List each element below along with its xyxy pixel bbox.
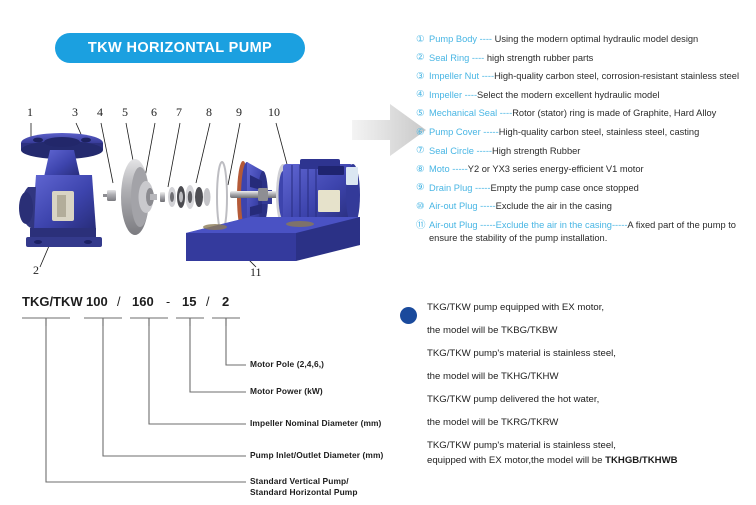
- model-code-leader-lines: [0, 292, 390, 500]
- feature-dash: ----: [462, 90, 477, 100]
- variant-line: the model will be TKHG/TKHW: [427, 372, 756, 382]
- feature-item: ②Seal Ring ---- high strength rubber par…: [416, 53, 756, 64]
- feature-number: ⑥: [416, 127, 429, 138]
- feature-text: Seal Ring ---- high strength rubber part…: [429, 53, 593, 64]
- code-token-hyphen: -: [166, 295, 170, 309]
- variant-line-text: TKG/TKW pump equipped with EX motor,: [427, 302, 604, 313]
- feature-number: ⑦: [416, 146, 429, 157]
- callout-8: 8: [206, 105, 212, 120]
- variant-line-text: the model will be TKBG/TKBW: [427, 325, 557, 336]
- callout-2: 2: [33, 263, 39, 278]
- feature-dash: -----: [472, 183, 490, 193]
- variant-line-text: equipped with EX motor,the model will be: [427, 455, 605, 466]
- feature-text: Pump Cover -----High-quality carbon stee…: [429, 127, 699, 138]
- variant-line-model: TKHGB/TKHWB: [605, 455, 677, 466]
- callout-5: 5: [122, 105, 128, 120]
- callout-1: 1: [27, 105, 33, 120]
- variant-line-text: the model will be TKHG/TKHW: [427, 371, 559, 382]
- feature-desc: Select the modern excellent hydraulic mo…: [477, 90, 659, 100]
- model-code-breakdown: TKG/TKW 100 / 160 - 15 / 2 Motor Pole (2…: [0, 292, 390, 500]
- callout-10: 10: [268, 105, 280, 120]
- feature-part-name: Impeller Nut: [429, 71, 479, 81]
- impeller-nut-part: [103, 190, 116, 201]
- variant-line-text: the model will be TKRG/TKRW: [427, 417, 558, 428]
- feature-text: Air-out Plug -----Exclude the air in the…: [429, 201, 612, 212]
- variant-line: the model will be TKBG/TKBW: [427, 326, 756, 336]
- feature-dash: -----: [478, 220, 496, 230]
- variant-line: TKG/TKW pump's material is stainless ste…: [427, 441, 756, 451]
- feature-desc: high strength rubber parts: [487, 53, 593, 63]
- feature-dash: -----: [474, 146, 492, 156]
- feature-text: Impeller Nut ----High-quality carbon ste…: [429, 71, 739, 82]
- label-impeller-diameter: Impeller Nominal Diameter (mm): [250, 417, 381, 429]
- code-token-pole: 2: [222, 294, 229, 309]
- variant-line-text: TKG/TKW pump's material is stainless ste…: [427, 348, 616, 359]
- code-token-power: 15: [182, 294, 196, 309]
- feature-text: Moto -----Y2 or YX3 series energy-effici…: [429, 164, 644, 175]
- label-inlet-outlet-diameter: Pump Inlet/Outlet Diameter (mm): [250, 449, 383, 461]
- feature-dash: ----: [469, 53, 487, 63]
- feature-desc: Exclude the air in the casing: [496, 201, 612, 211]
- pump-body-part: [19, 133, 103, 247]
- feature-item: ⑤Mechanical Seal ----Rotor (stator) ring…: [416, 108, 756, 119]
- code-token-series: TKG/TKW: [22, 294, 83, 309]
- feature-dash: -----: [481, 127, 499, 137]
- feature-dash: ----: [479, 71, 494, 81]
- feature-desc: Rotor (stator) ring is made of Graphite,…: [512, 108, 716, 118]
- feature-desc: Empty the pump case once stopped: [491, 183, 639, 193]
- base-plate-part: [186, 217, 360, 261]
- feature-number: ①: [416, 34, 429, 45]
- feature-part-name: Air-out Plug: [429, 220, 478, 230]
- callout-6: 6: [151, 105, 157, 120]
- feature-item: ①Pump Body ---- Using the modern optimal…: [416, 34, 756, 45]
- code-token-inlet: 100: [86, 294, 108, 309]
- variant-line: equipped with EX motor,the model will be…: [427, 456, 756, 466]
- feature-desc: Y2 or YX3 series energy-efficient V1 mot…: [468, 164, 644, 174]
- feature-text: Drain Plug -----Empty the pump case once…: [429, 183, 639, 194]
- feature-part-name: Drain Plug: [429, 183, 472, 193]
- label-motor-pole: Motor Pole (2,4,6,): [250, 358, 324, 370]
- feature-item: ⑦Seal Circle -----High strength Rubber: [416, 146, 756, 157]
- feature-desc: High-quality carbon steel, stainless ste…: [499, 127, 700, 137]
- feature-part-name: Impeller: [429, 90, 462, 100]
- feature-text: Impeller ----Select the modern excellent…: [429, 90, 659, 101]
- variant-line: the model will be TKRG/TKRW: [427, 418, 756, 428]
- variant-line-text: TKG/TKW pump's material is stainless ste…: [427, 440, 616, 451]
- feature-part-name: Moto: [429, 164, 450, 174]
- feature-part-name: Air-out Plug: [429, 201, 478, 211]
- page-title-pill: TKW HORIZONTAL PUMP: [55, 33, 305, 63]
- feature-text: Pump Body ---- Using the modern optimal …: [429, 34, 698, 45]
- code-token-slash-2: /: [206, 295, 209, 309]
- variant-lines: TKG/TKW pump equipped with EX motor,the …: [427, 303, 756, 465]
- feature-desc-line2: ensure the stability of the pump install…: [429, 233, 607, 243]
- feature-item: ⑥Pump Cover -----High-quality carbon ste…: [416, 127, 756, 138]
- mechanical-seal-parts: [160, 185, 211, 209]
- feature-item: ⑪Air-out Plug -----Exclude the air in th…: [416, 220, 756, 243]
- feature-part-name: Mechanical Seal: [429, 108, 497, 118]
- feature-part-name: Seal Circle: [429, 146, 474, 156]
- feature-number: ⑨: [416, 183, 429, 194]
- feature-part-name: Pump Cover: [429, 127, 481, 137]
- feature-desc: High strength Rubber: [492, 146, 580, 156]
- feature-item: ⑧Moto -----Y2 or YX3 series energy-effic…: [416, 164, 756, 175]
- feature-dash: -----: [450, 164, 468, 174]
- feature-dash-2: -----: [612, 220, 627, 230]
- feature-number: ③: [416, 71, 429, 82]
- feature-text: Air-out Plug -----Exclude the air in the…: [429, 220, 736, 243]
- variant-line: TKG/TKW pump delivered the hot water,: [427, 395, 756, 405]
- callout-11: 11: [250, 265, 262, 280]
- feature-number: ②: [416, 53, 429, 64]
- label-motor-power: Motor Power (kW): [250, 385, 323, 397]
- feature-item: ④Impeller ----Select the modern excellen…: [416, 90, 756, 101]
- code-token-slash-1: /: [117, 295, 120, 309]
- feature-number: ⑤: [416, 108, 429, 119]
- callout-9: 9: [236, 105, 242, 120]
- feature-part-name: Seal Ring: [429, 53, 469, 63]
- bullet-dot-icon: [400, 307, 417, 324]
- variant-line: TKG/TKW pump's material is stainless ste…: [427, 349, 756, 359]
- feature-dash: ----: [497, 108, 512, 118]
- feature-text: Seal Circle -----High strength Rubber: [429, 146, 580, 157]
- callout-3: 3: [72, 105, 78, 120]
- variant-line-text: TKG/TKW pump delivered the hot water,: [427, 394, 599, 405]
- feature-part-name: Pump Body: [429, 34, 477, 44]
- feature-desc: A fixed part of the pump to: [627, 220, 736, 230]
- feature-item: ⑩Air-out Plug -----Exclude the air in th…: [416, 201, 756, 212]
- feature-list: ①Pump Body ---- Using the modern optimal…: [416, 34, 756, 251]
- feature-item: ③Impeller Nut ----High-quality carbon st…: [416, 71, 756, 82]
- callout-7: 7: [176, 105, 182, 120]
- label-standard-horizontal-pump: Standard Horizontal Pump: [250, 486, 358, 498]
- feature-desc: High-quality carbon steel, corrosion-res…: [494, 71, 739, 81]
- feature-item: ⑨Drain Plug -----Empty the pump case onc…: [416, 183, 756, 194]
- exploded-pump-diagram: [0, 95, 370, 290]
- callout-4: 4: [97, 105, 103, 120]
- model-variants-block: TKG/TKW pump equipped with EX motor,the …: [396, 303, 756, 478]
- variant-line: TKG/TKW pump equipped with EX motor,: [427, 303, 756, 313]
- feature-dash: ----: [477, 34, 495, 44]
- page-title: TKW HORIZONTAL PUMP: [88, 40, 272, 56]
- feature-desc-cyan: Exclude the air in the casing: [496, 220, 612, 230]
- feature-number: ⑪: [416, 220, 429, 231]
- code-token-impeller-dia: 160: [132, 294, 154, 309]
- feature-dash: -----: [478, 201, 496, 211]
- impeller-part: [121, 159, 157, 235]
- feature-text: Mechanical Seal ----Rotor (stator) ring …: [429, 108, 716, 119]
- feature-number: ⑩: [416, 201, 429, 212]
- feature-desc: Using the modern optimal hydraulic model…: [495, 34, 699, 44]
- feature-number: ④: [416, 90, 429, 101]
- seal-circle-part: [217, 162, 227, 232]
- feature-number: ⑧: [416, 164, 429, 175]
